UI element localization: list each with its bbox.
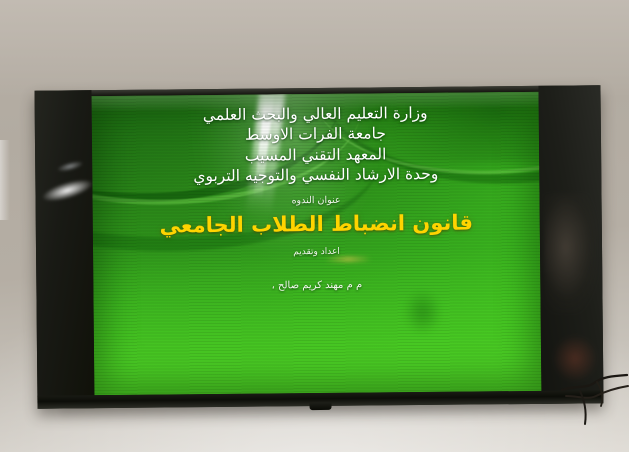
bezel-right-reflection (544, 193, 599, 314)
slide-org-line-1: وزارة التعليم العالي والبحث العلمي (203, 104, 428, 124)
slide-main-title: قانون انضباط الطلاب الجامعي (159, 211, 473, 239)
wall-top-sheen (0, 0, 629, 95)
slide-org-line-2: جامعة الفرات الاوسط (245, 125, 386, 145)
bezel-left-glare-secondary (57, 159, 84, 173)
photo-scene: وزارة التعليم العالي والبحث العلمي جامعة… (0, 0, 629, 452)
wall-mounted-television[interactable]: وزارة التعليم العالي والبحث العلمي جامعة… (34, 85, 603, 408)
slide-org-line-3: المعهد التقني المسيب (245, 145, 387, 165)
slide-seminar-label: عنوان الندوه (291, 195, 340, 207)
ir-sensor-nub (309, 403, 331, 410)
slide-presenter-name: م م مهند كريم صالح ، (272, 279, 363, 292)
bezel-right-reflection-warm (553, 335, 597, 381)
slide-prepared-by-label: اعداد وتقديم (293, 247, 340, 258)
slide-org-line-4: وحدة الارشاد النفسي والتوجيه التربوي (193, 165, 438, 186)
wall-left-edge-highlight (0, 140, 10, 220)
tv-bezel-right (538, 85, 603, 404)
slide-content: وزارة التعليم العالي والبحث العلمي جامعة… (92, 92, 542, 395)
tv-bezel-left (34, 90, 94, 409)
tv-screen[interactable]: وزارة التعليم العالي والبحث العلمي جامعة… (92, 92, 542, 395)
bezel-left-glare (40, 175, 94, 205)
